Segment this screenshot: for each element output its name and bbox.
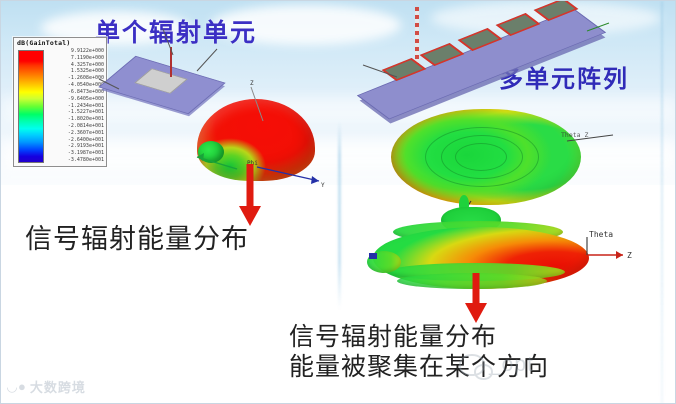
watermark-text: 大数跨境 [30,377,86,396]
section-divider [338,121,341,309]
legend-value: -1.2608e+000 [44,76,104,81]
legend-title: dB(GainTotal) [17,39,70,47]
logo-icon: ◡● [7,379,27,395]
legend-value: -4.0540e+000 [44,83,104,88]
legend-value: -3.4780e+001 [44,158,104,163]
watermark-bottom-right: _opt [459,353,534,377]
watermark-text: _opt [489,353,534,377]
legend-value: -1.5227e+001 [44,110,104,115]
wechat-icon [459,354,485,376]
legend-value: -3.1987e+001 [44,151,104,156]
legend-colorbar [18,50,44,163]
legend-value: 9.9122e+000 [44,49,104,54]
title-single-element: 单个辐射单元 [95,13,257,49]
legend-value: -6.8473e+000 [44,90,104,95]
caption-left: 信号辐射能量分布 [25,217,249,256]
watermark-bottom-left: ◡● 大数跨境 [7,377,86,396]
legend-value: 1.5325e+000 [44,69,104,74]
pattern-single-backlobe [198,141,224,163]
single-patch-model [113,45,223,127]
legend-value: 7.1190e+000 [44,56,104,61]
right-down-arrow [465,273,487,323]
gain-legend: dB(GainTotal) 9.9122e+000 7.1190e+000 4.… [13,37,107,167]
legend-value: -1.8020e+001 [44,117,104,122]
legend-value: 4.3257e+000 [44,63,104,68]
slide-canvas: 单个辐射单元 多单元阵列 dB(GainTotal) 9.9122e+000 7… [0,0,676,404]
legend-value: -2.6400e+001 [44,138,104,143]
legend-value: -2.3607e+001 [44,131,104,136]
legend-value-list: 9.9122e+000 7.1190e+000 4.3257e+000 1.53… [44,49,104,163]
legend-value: -2.0814e+001 [44,124,104,129]
array-model [373,15,623,107]
model-axes [113,45,223,127]
legend-value: -9.6405e+000 [44,97,104,102]
legend-value: -2.9193e+001 [44,144,104,149]
right-edge-divider [661,1,663,404]
array-axes [373,15,623,107]
pattern-contour-ring [455,143,507,171]
pattern-sidelobe-fin [367,251,401,273]
legend-value: -1.2434e+001 [44,104,104,109]
